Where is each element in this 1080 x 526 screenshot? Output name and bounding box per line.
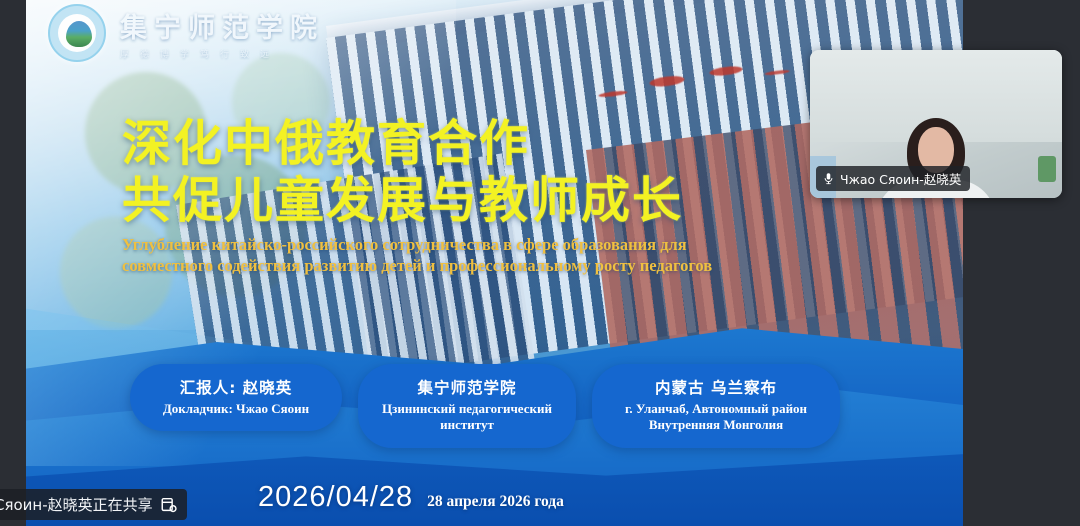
slide-title-block: 深化中俄教育合作 共促儿童发展与教师成长 Углубление китайско…	[122, 116, 852, 276]
university-name-block: 集宁师范学院 厚德博学笃行致远	[120, 6, 324, 60]
university-seal-icon	[48, 4, 106, 62]
pill-presenter-ru: Докладчик: Чжао Сяоин	[146, 401, 326, 417]
info-pill-presenter: 汇报人: 赵晓英 Докладчик: Чжао Сяоин	[130, 364, 342, 431]
screen-share-icon	[160, 496, 178, 514]
pill-institution-ru: Цзининский педагогический институт	[374, 401, 560, 434]
slide-date-block: 2026/04/28 28 апреля 2026 года	[258, 481, 564, 514]
pill-presenter-cn: 汇报人: 赵晓英	[146, 376, 326, 398]
pill-location-cn: 内蒙古 乌兰察布	[608, 376, 824, 398]
info-pill-group: 汇报人: 赵晓英 Докладчик: Чжао Сяоин 集宁师范学院 Цз…	[130, 364, 840, 448]
participant-video-tile[interactable]: Чжао Сяоин-赵晓英	[810, 50, 1062, 198]
screen-share-banner: Сяоин-赵晓英正在共享	[0, 489, 187, 520]
date-russian: 28 апреля 2026 года	[427, 493, 564, 511]
title-cn-line2: 共促儿童发展与教师成长	[122, 173, 852, 230]
title-cn-line1: 深化中俄教育合作	[122, 116, 852, 173]
title-russian-subtitle: Углубление китайско-российского сотрудни…	[122, 234, 762, 276]
date-numeric: 2026/04/28	[258, 481, 413, 514]
participant-name-badge: Чжао Сяоин-赵晓英	[816, 166, 970, 191]
university-motto-text: 厚德博学笃行致远	[120, 47, 324, 60]
university-name-cn: 集宁师范学院	[120, 6, 324, 45]
meeting-screen: 集宁师范学院 厚德博学笃行致远 深化中俄教育合作 共促儿童发展与教师成长 Угл…	[0, 0, 1080, 526]
screen-share-label: Сяоин-赵晓英正在共享	[0, 494, 153, 515]
video-green-object	[1038, 156, 1056, 182]
info-pill-institution: 集宁师范学院 Цзининский педагогический институ…	[358, 364, 576, 448]
microphone-icon	[822, 172, 835, 185]
info-pill-location: 内蒙古 乌兰察布 г. Уланчаб, Автономный район Вн…	[592, 364, 840, 448]
university-header: 集宁师范学院 厚德博学笃行致远	[48, 4, 324, 62]
pill-institution-cn: 集宁师范学院	[374, 376, 560, 398]
pill-location-ru: г. Уланчаб, Автономный район Внутренняя …	[608, 401, 824, 434]
participant-name-text: Чжао Сяоин-赵晓英	[840, 169, 961, 188]
